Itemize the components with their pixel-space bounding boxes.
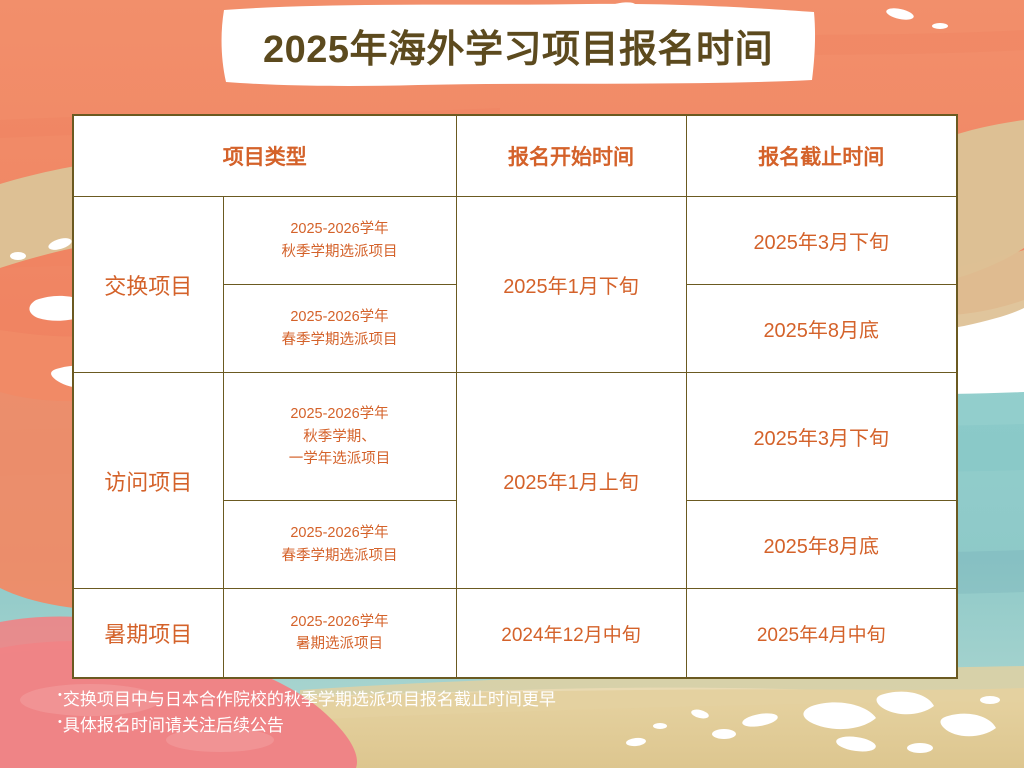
program-subtype-summer: 2025-2026学年 暑期选派项目 (223, 589, 456, 678)
table-header-row: 项目类型 报名开始时间 报名截止时间 (73, 115, 957, 197)
subtype-line: 秋季学期、 (303, 429, 376, 445)
program-schedule-table: 项目类型 报名开始时间 报名截止时间 交换项目 2025-2026学年 秋季学期… (72, 114, 958, 679)
subtype-line: 2025-2026学年 (290, 309, 388, 325)
footnote-item: •具体报名时间请关注后续公告 (58, 713, 556, 739)
footnote-list: •交换项目中与日本合作院校的秋季学期选派项目报名截止时间更早 •具体报名时间请关… (58, 687, 556, 740)
bullet-icon: • (58, 690, 62, 701)
start-time-summer: 2024年12月中旬 (456, 589, 686, 678)
program-subtype-exchange-fall: 2025-2026学年 秋季学期选派项目 (223, 197, 456, 285)
start-time-exchange: 2025年1月下旬 (456, 197, 686, 373)
deadline-exchange-spring: 2025年8月底 (686, 285, 957, 373)
subtype-line: 2025-2026学年 (290, 614, 388, 630)
deadline-visiting-spring: 2025年8月底 (686, 501, 957, 589)
subtype-line: 2025-2026学年 (290, 525, 388, 541)
start-time-visiting: 2025年1月上旬 (456, 373, 686, 589)
column-header-deadline: 报名截止时间 (686, 115, 957, 197)
footnote-item: •交换项目中与日本合作院校的秋季学期选派项目报名截止时间更早 (58, 687, 556, 713)
program-subtype-visiting-spring: 2025-2026学年 春季学期选派项目 (223, 501, 456, 589)
footnote-text: 具体报名时间请关注后续公告 (63, 716, 284, 735)
program-category-exchange: 交换项目 (73, 197, 223, 373)
program-category-visiting: 访问项目 (73, 373, 223, 589)
program-subtype-visiting-fall: 2025-2026学年 秋季学期、 一学年选派项目 (223, 373, 456, 501)
program-category-summer: 暑期项目 (73, 589, 223, 678)
subtype-line: 春季学期选派项目 (282, 548, 398, 564)
footnote-text: 交换项目中与日本合作院校的秋季学期选派项目报名截止时间更早 (63, 690, 556, 709)
subtype-line: 2025-2026学年 (290, 221, 388, 237)
table-row: 访问项目 2025-2026学年 秋季学期、 一学年选派项目 2025年1月上旬… (73, 373, 957, 501)
subtype-line: 秋季学期选派项目 (282, 244, 398, 260)
deadline-summer: 2025年4月中旬 (686, 589, 957, 678)
subtype-line: 春季学期选派项目 (282, 332, 398, 348)
subtype-line: 2025-2026学年 (290, 406, 388, 422)
page-title: 2025年海外学习项目报名时间 (218, 14, 818, 76)
column-header-start-time: 报名开始时间 (456, 115, 686, 197)
program-subtype-exchange-spring: 2025-2026学年 春季学期选派项目 (223, 285, 456, 373)
table-row: 暑期项目 2025-2026学年 暑期选派项目 2024年12月中旬 2025年… (73, 589, 957, 678)
table-row: 交换项目 2025-2026学年 秋季学期选派项目 2025年1月下旬 2025… (73, 197, 957, 285)
bullet-icon: • (58, 717, 62, 728)
subtype-line: 暑期选派项目 (296, 636, 383, 652)
column-header-program-type: 项目类型 (73, 115, 456, 197)
deadline-exchange-fall: 2025年3月下旬 (686, 197, 957, 285)
subtype-line: 一学年选派项目 (289, 451, 391, 467)
deadline-visiting-fall: 2025年3月下旬 (686, 373, 957, 501)
